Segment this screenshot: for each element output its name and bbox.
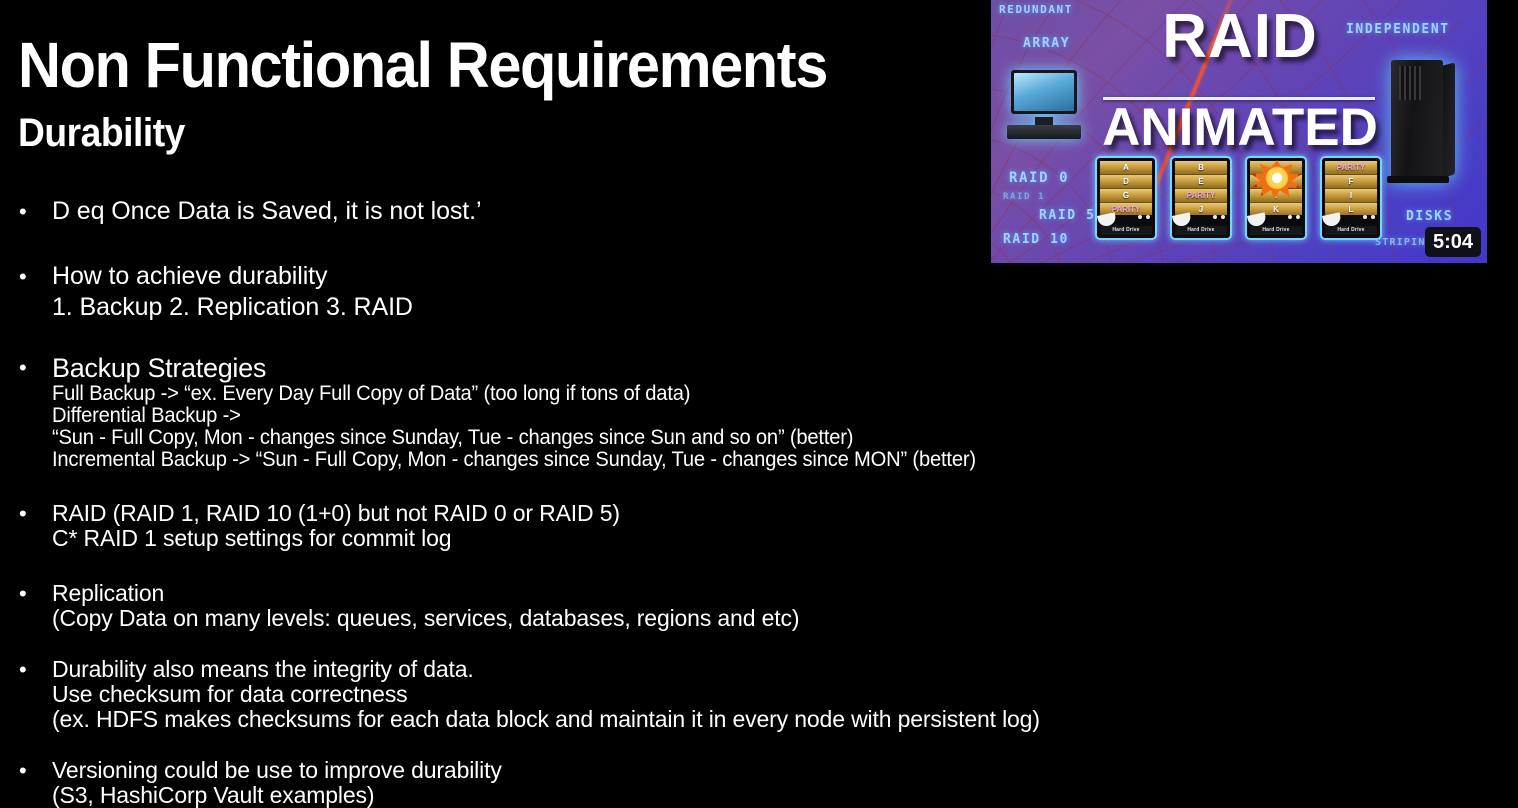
list-item-text: Replication (Copy Data on many levels: q… bbox=[52, 581, 1300, 631]
drive-caption: Hard Drive bbox=[1250, 226, 1302, 235]
bullet-marker: • bbox=[19, 261, 27, 292]
list-item: • How to achieve durability 1. Backup 2.… bbox=[0, 261, 1300, 323]
drive-indicator-lights bbox=[1359, 206, 1375, 224]
label-raid-10: RAID 10 bbox=[1003, 232, 1069, 247]
page-subtitle: Durability bbox=[18, 113, 185, 153]
list-item-text: Durability also means the integrity of d… bbox=[52, 657, 1300, 732]
drive-block: A bbox=[1100, 161, 1152, 175]
label-redundant: REDUNDANT bbox=[999, 3, 1073, 16]
bullet-marker: • bbox=[19, 501, 27, 526]
list-item-text: Backup Strategies Full Backup -> “ex. Ev… bbox=[52, 353, 1300, 471]
hard-drive-card: ADGPARITYHard Drive bbox=[1095, 156, 1157, 240]
tower-vents bbox=[1399, 66, 1421, 100]
thumbnail-subtitle: ANIMATED bbox=[1096, 101, 1384, 155]
text-line-with-spellcheck: (S3, HashiCorp Vault examples) bbox=[52, 783, 1300, 808]
text-line: Use checksum for data correctness bbox=[52, 682, 1300, 707]
list-item-heading: Backup Strategies bbox=[52, 353, 1300, 383]
drive-block: PARITY bbox=[1325, 161, 1377, 175]
bullet-marker: • bbox=[19, 657, 27, 682]
text-line: Incremental Backup -> “Sun - Full Copy, … bbox=[52, 449, 1250, 471]
drive-caption: Hard Drive bbox=[1100, 226, 1152, 235]
label-array: ARRAY bbox=[1023, 36, 1070, 51]
bullet-marker: • bbox=[19, 581, 27, 606]
label-raid-5: RAID 5 bbox=[1039, 208, 1096, 223]
text-line: RAID (RAID 1, RAID 10 (1+0) but not RAID… bbox=[52, 501, 1300, 526]
list-item: • Durability also means the integrity of… bbox=[0, 657, 1300, 732]
hard-drive-card: IKHard Drive bbox=[1245, 156, 1307, 240]
thumbnail-title: RAID bbox=[1099, 8, 1381, 66]
list-item: • Backup Strategies Full Backup -> “ex. … bbox=[0, 353, 1300, 471]
drive-indicator-lights bbox=[1209, 206, 1225, 224]
label-raid-0: RAID 0 bbox=[1009, 170, 1069, 186]
drive-block: F bbox=[1325, 175, 1377, 189]
computer-monitor-icon bbox=[1005, 70, 1083, 148]
text-line: Differential Backup -> bbox=[52, 405, 1250, 427]
desktop-chassis bbox=[1007, 125, 1081, 139]
list-item-text: How to achieve durability 1. Backup 2. R… bbox=[52, 261, 1300, 323]
drive-block: PARITY bbox=[1175, 189, 1227, 203]
drive-caption: Hard Drive bbox=[1175, 226, 1227, 235]
slide-canvas: Non Functional Requirements Durability •… bbox=[0, 0, 1518, 808]
text-line: Replication bbox=[52, 581, 1300, 606]
drive-indicator-lights bbox=[1134, 206, 1150, 224]
text-line: (ex. HDFS makes checksums for each data … bbox=[52, 707, 1300, 732]
text-line: Durability also means the integrity of d… bbox=[52, 657, 1300, 682]
text-line: C* RAID 1 setup settings for commit log bbox=[52, 526, 1300, 551]
list-item-text: RAID (RAID 1, RAID 10 (1+0) but not RAID… bbox=[52, 501, 1300, 551]
monitor-stand bbox=[1035, 117, 1053, 125]
list-item: • Versioning could be use to improve dur… bbox=[0, 758, 1300, 808]
drive-block: B bbox=[1175, 161, 1227, 175]
bullet-marker: • bbox=[19, 758, 27, 783]
drive-block: D bbox=[1100, 175, 1152, 189]
video-duration-badge: 5:04 bbox=[1425, 227, 1481, 257]
page-title: Non Functional Requirements bbox=[18, 33, 827, 97]
text-line: How to achieve durability bbox=[52, 261, 1300, 292]
bullet-marker: • bbox=[19, 355, 27, 381]
drive-block: E bbox=[1175, 175, 1227, 189]
monitor-glass bbox=[1014, 73, 1074, 111]
drive-caption: Hard Drive bbox=[1325, 226, 1377, 235]
misspelled-word: HashiCorp bbox=[100, 782, 207, 808]
text-line: 1. Backup 2. Replication 3. RAID bbox=[52, 292, 1300, 323]
tower-base bbox=[1387, 176, 1449, 183]
drive-block: G bbox=[1100, 189, 1152, 203]
text-line: Full Backup -> “ex. Every Day Full Copy … bbox=[52, 383, 1250, 405]
list-item-text: Versioning could be use to improve durab… bbox=[52, 758, 1300, 808]
text-line: Versioning could be use to improve durab… bbox=[52, 758, 1300, 783]
monitor-screen bbox=[1011, 70, 1077, 114]
tower-front-panel bbox=[1391, 60, 1443, 178]
list-item: • RAID (RAID 1, RAID 10 (1+0) but not RA… bbox=[0, 501, 1300, 551]
raid-video-thumbnail[interactable]: REDUNDANT ARRAY INDEPENDENT DISKS STRIPI… bbox=[991, 0, 1487, 263]
drive-block: I bbox=[1325, 189, 1377, 203]
tower-side-panel bbox=[1441, 63, 1455, 178]
label-raid-1: RAID 1 bbox=[1003, 192, 1045, 202]
drive-indicator-lights bbox=[1284, 206, 1300, 224]
hard-drive-card: BEPARITYJHard Drive bbox=[1170, 156, 1232, 240]
bullet-list: • D eq Once Data is Saved, it is not los… bbox=[0, 196, 1300, 808]
text-line: “Sun - Full Copy, Mon - changes since Su… bbox=[52, 427, 1250, 449]
label-disks: DISKS bbox=[1406, 209, 1453, 224]
hard-drive-card: PARITYFILHard Drive bbox=[1320, 156, 1382, 240]
hard-drive-row: ADGPARITYHard DriveBEPARITYJHard DriveIK… bbox=[1095, 156, 1383, 240]
bullet-marker: • bbox=[19, 196, 27, 227]
server-tower-icon bbox=[1391, 60, 1457, 190]
list-item: • Replication (Copy Data on many levels:… bbox=[0, 581, 1300, 631]
text-line: (Copy Data on many levels: queues, servi… bbox=[52, 606, 1300, 631]
